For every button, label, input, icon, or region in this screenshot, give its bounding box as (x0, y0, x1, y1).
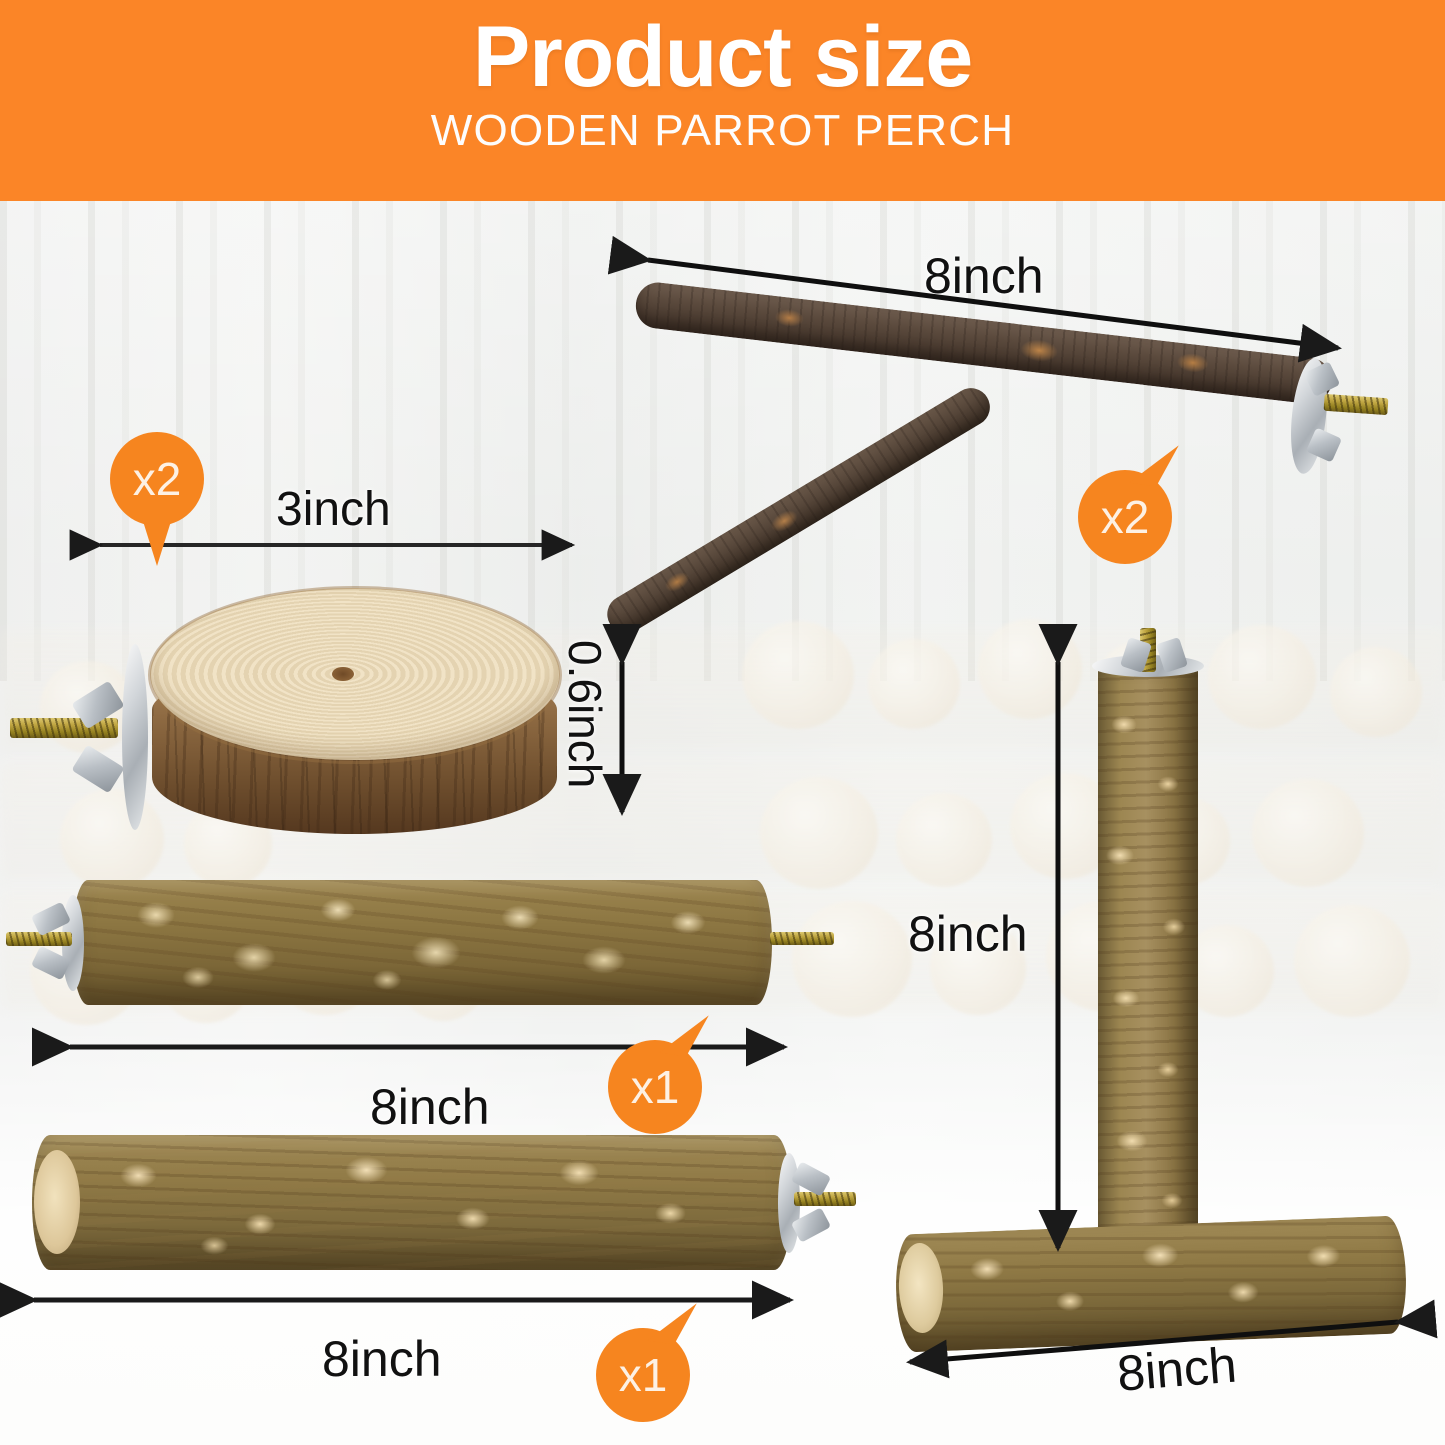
background-log-disc (1294, 905, 1410, 1017)
header-banner: Product size WOODEN PARROT PERCH (0, 0, 1445, 201)
textured-log-perch (72, 880, 772, 1005)
product-size-infographic: Product size WOODEN PARROT PERCH (0, 0, 1445, 1445)
background-log-disc (978, 619, 1082, 719)
dimension-label-branch-length: 8inch (924, 247, 1044, 305)
bark-log-perch (32, 1135, 792, 1270)
background-log-disc (896, 793, 992, 887)
bottom-log-bolt (794, 1192, 856, 1206)
background-log-disc (1252, 779, 1364, 887)
quantity-badge-bottom-log: x1 (596, 1328, 690, 1422)
bark-log-cut-end (34, 1150, 80, 1254)
quantity-badge-branch: x2 (1078, 470, 1172, 564)
dimension-label-bottom-log: 8inch (322, 1330, 442, 1388)
round-disc-perch (120, 580, 590, 855)
quantity-badge-mid-log: x1 (608, 1040, 702, 1134)
disc-washer (122, 644, 148, 830)
background-log-disc (792, 901, 912, 1017)
dimension-label-t-base-length: 8inch (1115, 1336, 1239, 1403)
dimension-label-t-post-height: 8inch (908, 905, 1028, 963)
quantity-badge-disc: x2 (110, 432, 204, 526)
background-log-disc (742, 621, 854, 729)
quantity-badge-label: x2 (1101, 490, 1150, 544)
quantity-badge-label: x2 (133, 452, 182, 506)
quantity-badge-label: x1 (619, 1348, 668, 1402)
background-log-disc (1208, 625, 1316, 729)
disc-rim (148, 586, 562, 764)
quantity-badge-label: x1 (631, 1060, 680, 1114)
page-subtitle: WOODEN PARROT PERCH (431, 106, 1014, 156)
dimension-label-disc-width: 3inch (276, 482, 391, 537)
background-log-disc (760, 777, 878, 889)
page-title: Product size (473, 12, 972, 102)
background-log-disc (1330, 647, 1422, 737)
mid-log-bolt-right (770, 932, 834, 945)
t-stand-vertical-post (1098, 665, 1198, 1260)
background-log-disc (868, 639, 960, 729)
disc-bolt (10, 718, 118, 738)
badge-tail-icon (142, 518, 172, 566)
t-stand-horizontal-base (894, 1215, 1408, 1352)
dimension-label-mid-log: 8inch (370, 1078, 490, 1136)
